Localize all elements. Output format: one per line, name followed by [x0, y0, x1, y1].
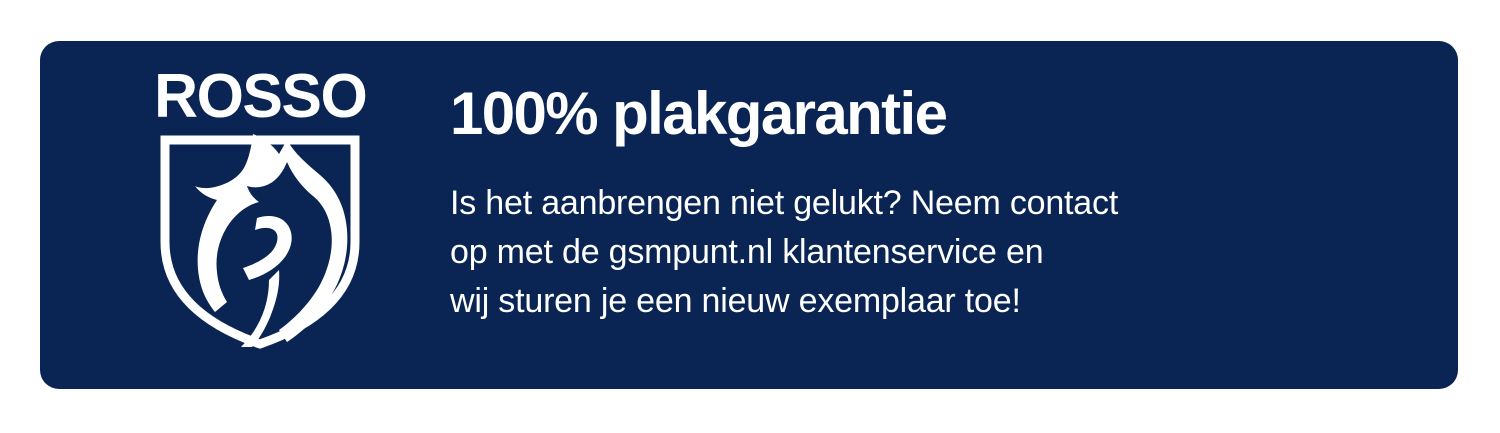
- promo-body: Is het aanbrengen niet gelukt? Neem cont…: [450, 179, 1410, 326]
- promo-body-line-1: Is het aanbrengen niet gelukt? Neem cont…: [450, 179, 1410, 228]
- rosso-wordmark: ROSSO: [154, 66, 366, 128]
- promo-body-line-2: op met de gsmpunt.nl klantenservice en: [450, 228, 1410, 277]
- promo-body-line-3: wij sturen je een nieuw exemplaar toe!: [450, 277, 1410, 326]
- promo-headline: 100% plakgarantie: [450, 81, 1410, 147]
- rosso-logo: ROSSO: [135, 66, 385, 376]
- rosso-shield-horse-logo-icon: [157, 132, 363, 350]
- plakgarantie-promo-card: ROSSO 100% plakgarantie: [40, 41, 1458, 389]
- banner-stage: ROSSO 100% plakgarantie: [0, 0, 1500, 433]
- promo-copy: 100% plakgarantie Is het aanbrengen niet…: [450, 81, 1410, 326]
